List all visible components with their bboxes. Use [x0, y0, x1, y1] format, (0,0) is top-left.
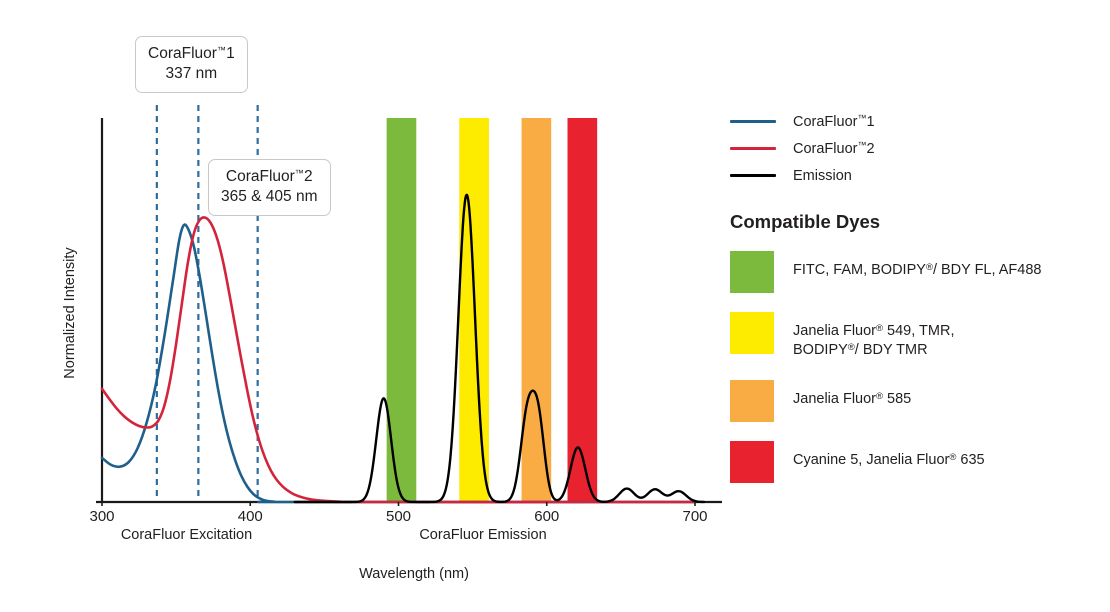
- dye-row-3[interactable]: Cyanine 5, Janelia Fluor® 635: [730, 441, 1100, 483]
- callout-cf1-line1: CoraFluor™1: [148, 44, 235, 64]
- dye-label-line: FITC, FAM, BODIPY®/ BDY FL, AF488: [793, 261, 1041, 280]
- registered-symbol: ®: [848, 342, 855, 353]
- legend-label-0: CoraFluor™1: [793, 113, 875, 130]
- x-tick-label-500: 500: [386, 508, 411, 525]
- callout-cf2-line1: CoraFluor™2: [221, 167, 318, 187]
- dye-color-swatch-icon: [730, 251, 774, 293]
- registered-symbol: ®: [926, 262, 933, 273]
- trademark-symbol: ™: [217, 45, 226, 55]
- callout-cf1-line2: 337 nm: [148, 64, 235, 84]
- dye-label-line: Janelia Fluor® 585: [793, 390, 911, 409]
- region-label-1: CoraFluor Emission: [419, 527, 546, 543]
- dye-label-1: Janelia Fluor® 549, TMR,BODIPY®/ BDY TMR: [793, 312, 954, 361]
- dye-label-line: BODIPY®/ BDY TMR: [793, 341, 954, 360]
- x-tick-label-300: 300: [89, 508, 114, 525]
- legend-row-2[interactable]: Emission: [730, 162, 1100, 189]
- legend-panel: CoraFluor™1CoraFluor™2Emission Compatibl…: [730, 108, 1100, 502]
- dye-color-swatch-icon: [730, 312, 774, 354]
- x-tick-label-700: 700: [682, 508, 707, 525]
- curve-emission: [295, 195, 704, 502]
- legend-line-swatch-icon: [730, 120, 776, 123]
- x-tick-label-400: 400: [238, 508, 263, 525]
- dye-label-3: Cyanine 5, Janelia Fluor® 635: [793, 441, 985, 470]
- dye-label-2: Janelia Fluor® 585: [793, 380, 911, 409]
- callout-corafluor-2: CoraFluor™2 365 & 405 nm: [208, 159, 331, 216]
- y-axis-title: Normalized Intensity: [62, 213, 78, 413]
- dye-color-swatch-icon: [730, 380, 774, 422]
- legend-row-0[interactable]: CoraFluor™1: [730, 108, 1100, 135]
- callout-cf2-line2: 365 & 405 nm: [221, 187, 318, 207]
- legend-label-1: CoraFluor™2: [793, 140, 875, 157]
- dye-band-orange-band: [522, 118, 552, 502]
- registered-symbol: ®: [876, 323, 883, 334]
- legend-row-1[interactable]: CoraFluor™2: [730, 135, 1100, 162]
- registered-symbol: ®: [876, 391, 883, 402]
- compatible-dyes-heading: Compatible Dyes: [730, 211, 1100, 233]
- dye-row-0[interactable]: FITC, FAM, BODIPY®/ BDY FL, AF488: [730, 251, 1100, 293]
- legend-line-swatch-icon: [730, 174, 776, 177]
- compatible-dyes-list: FITC, FAM, BODIPY®/ BDY FL, AF488Janelia…: [730, 251, 1100, 483]
- series-legend: CoraFluor™1CoraFluor™2Emission: [730, 108, 1100, 189]
- region-label-0: CoraFluor Excitation: [121, 527, 252, 543]
- dye-color-swatch-icon: [730, 441, 774, 483]
- callout-corafluor-1: CoraFluor™1 337 nm: [135, 36, 248, 93]
- x-axis-title: Wavelength (nm): [359, 566, 469, 582]
- legend-label-2: Emission: [793, 168, 852, 184]
- dye-label-line: Cyanine 5, Janelia Fluor® 635: [793, 451, 985, 470]
- spectra-figure: CoraFluor™1 337 nm CoraFluor™2 365 & 405…: [0, 0, 1110, 612]
- x-tick-label-600: 600: [534, 508, 559, 525]
- dye-band-red-band: [568, 118, 598, 502]
- dye-row-2[interactable]: Janelia Fluor® 585: [730, 380, 1100, 422]
- dye-label-line: Janelia Fluor® 549, TMR,: [793, 322, 954, 341]
- legend-line-swatch-icon: [730, 147, 776, 150]
- dye-label-0: FITC, FAM, BODIPY®/ BDY FL, AF488: [793, 251, 1041, 280]
- dye-row-1[interactable]: Janelia Fluor® 549, TMR,BODIPY®/ BDY TMR: [730, 312, 1100, 361]
- trademark-symbol: ™: [295, 168, 304, 178]
